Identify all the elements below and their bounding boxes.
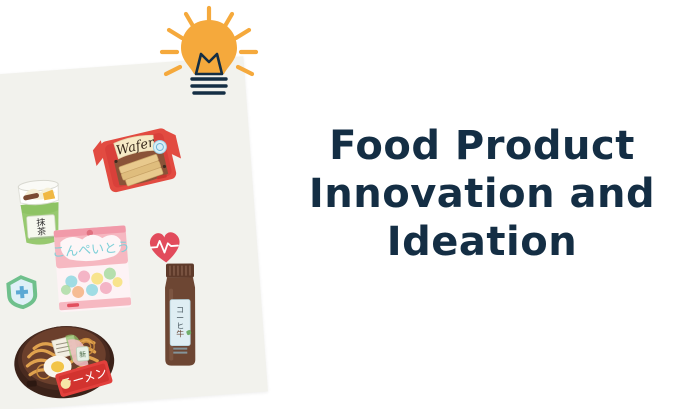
shield-cross-icon [3, 272, 42, 313]
instant-ramen-sticker: 新 ラーメン [6, 314, 122, 404]
slide-canvas: 抹 茶 Wafer [0, 0, 680, 409]
coffee-milk-bottle-sticker: コ ー ヒ 牛 [152, 258, 208, 373]
svg-text:茶: 茶 [37, 225, 47, 238]
title-line-1: Food Product [292, 122, 672, 170]
svg-text:新: 新 [79, 350, 87, 359]
idea-lightbulb-icon [156, 2, 262, 106]
illustration-card: 抹 茶 Wafer [0, 56, 268, 409]
title-line-3: Ideation [292, 218, 672, 266]
page-title: Food Product Innovation and Ideation [292, 122, 672, 266]
wafer-package-sticker: Wafer [90, 123, 187, 202]
svg-text:牛: 牛 [176, 329, 184, 339]
konpeito-candy-bag-sticker: こんぺいとう [47, 217, 138, 321]
title-line-2: Innovation and [292, 170, 672, 218]
